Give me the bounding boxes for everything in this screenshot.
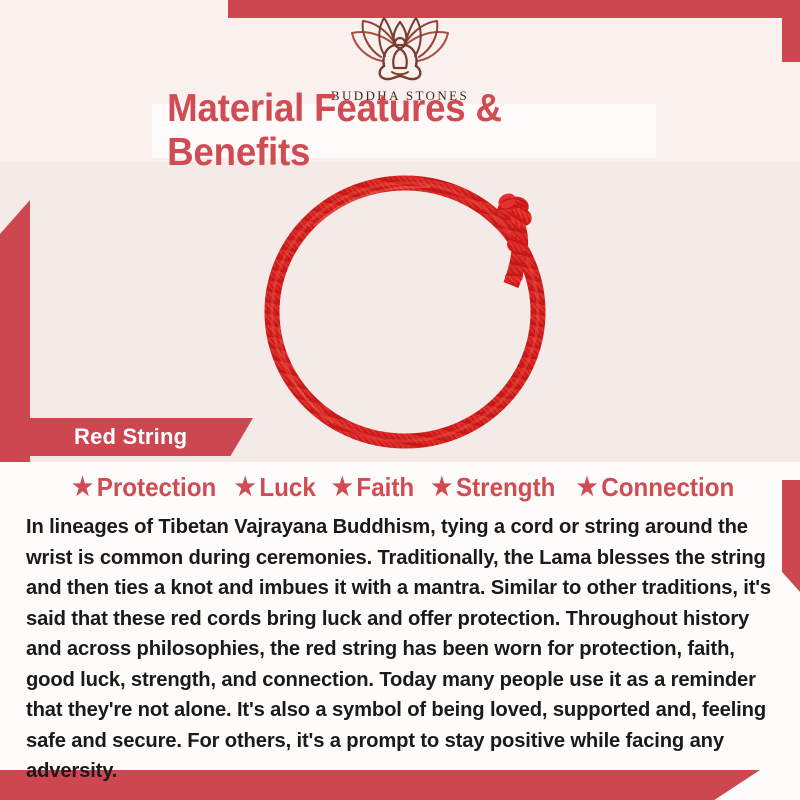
feature-label: Strength <box>456 472 555 503</box>
frame-left-bar <box>0 200 30 462</box>
feature-item-faith: ★ Faith <box>325 472 414 503</box>
star-icon: ★ <box>235 475 256 500</box>
red-string-bracelet-illustration <box>255 165 585 455</box>
star-icon: ★ <box>332 475 353 500</box>
star-icon: ★ <box>576 475 597 500</box>
page-title: Material Features & Benefits <box>167 87 641 175</box>
star-icon: ★ <box>432 475 453 500</box>
feature-label: Protection <box>97 472 217 503</box>
feature-item-protection: ★ Protection <box>65 472 216 503</box>
feature-label: Faith <box>356 472 414 503</box>
page-title-band: Material Features & Benefits <box>152 104 656 158</box>
star-icon: ★ <box>72 475 93 500</box>
feature-label: Connection <box>601 472 734 503</box>
product-label-banner: Red String <box>28 418 253 456</box>
product-label: Red String <box>74 424 187 450</box>
feature-item-strength: ★ Strength <box>425 472 555 503</box>
feature-list: ★ Protection ★ Luck ★ Faith ★ Strength ★… <box>0 466 800 508</box>
infographic-page: BUDDHA STONES Material Features & Benefi… <box>0 0 800 800</box>
feature-item-connection: ★ Connection <box>570 472 734 503</box>
feature-item-luck: ★ Luck <box>228 472 316 503</box>
description-paragraph: In lineages of Tibetan Vajrayana Buddhis… <box>26 512 778 787</box>
feature-label: Luck <box>259 472 315 503</box>
lotus-meditation-icon <box>338 16 462 84</box>
